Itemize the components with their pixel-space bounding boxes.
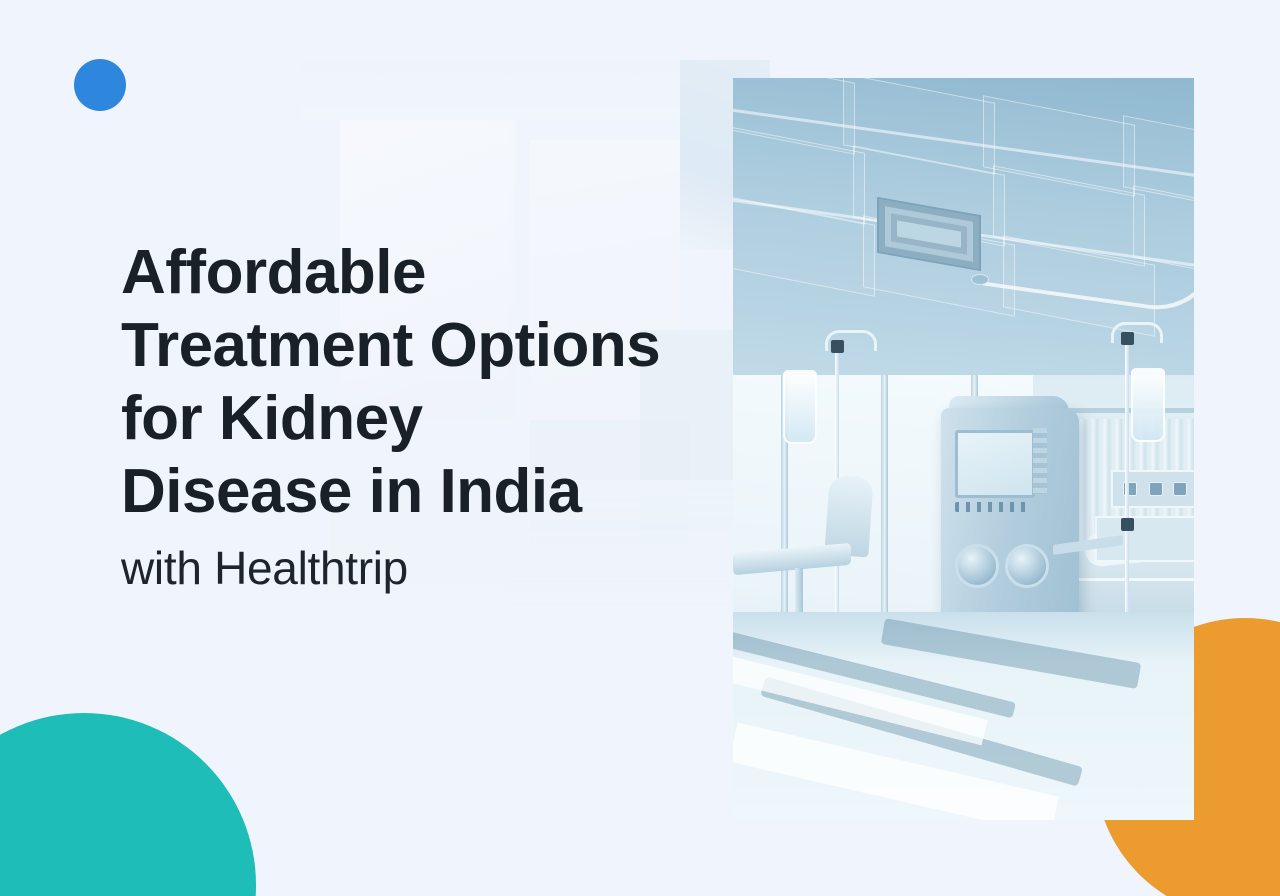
machine-pump-knob	[1005, 544, 1049, 588]
wall-outlet-panel	[1111, 470, 1194, 508]
curtain-track	[983, 102, 1194, 319]
iv-clamp	[831, 340, 844, 353]
floor	[733, 612, 1194, 820]
iv-clamp	[1121, 332, 1134, 345]
page-title: Affordable Treatment Options for Kidney …	[121, 236, 701, 528]
floor-highlight	[733, 723, 1059, 820]
machine-indicator-lights	[955, 502, 1031, 512]
blue-dot-decoration	[74, 59, 126, 111]
iv-bag	[1131, 368, 1165, 442]
headline-block: Affordable Treatment Options for Kidney …	[121, 236, 701, 596]
outlet	[1149, 482, 1163, 496]
iv-clamp	[1121, 518, 1134, 531]
machine-screen	[955, 430, 1035, 498]
photo-scene	[733, 78, 1194, 820]
machine-pump-knob	[955, 544, 999, 588]
page-subtitle: with Healthtrip	[121, 540, 701, 596]
promo-banner: Affordable Treatment Options for Kidney …	[0, 0, 1280, 896]
iv-hook	[1111, 322, 1163, 343]
machine-buttons	[1033, 428, 1047, 494]
outlet	[1173, 482, 1187, 496]
ghost-band-top	[300, 60, 760, 120]
iv-bag	[783, 370, 817, 444]
hospital-photo	[733, 78, 1194, 820]
teal-circle-decoration	[0, 713, 256, 896]
smoke-detector-icon	[971, 274, 989, 285]
